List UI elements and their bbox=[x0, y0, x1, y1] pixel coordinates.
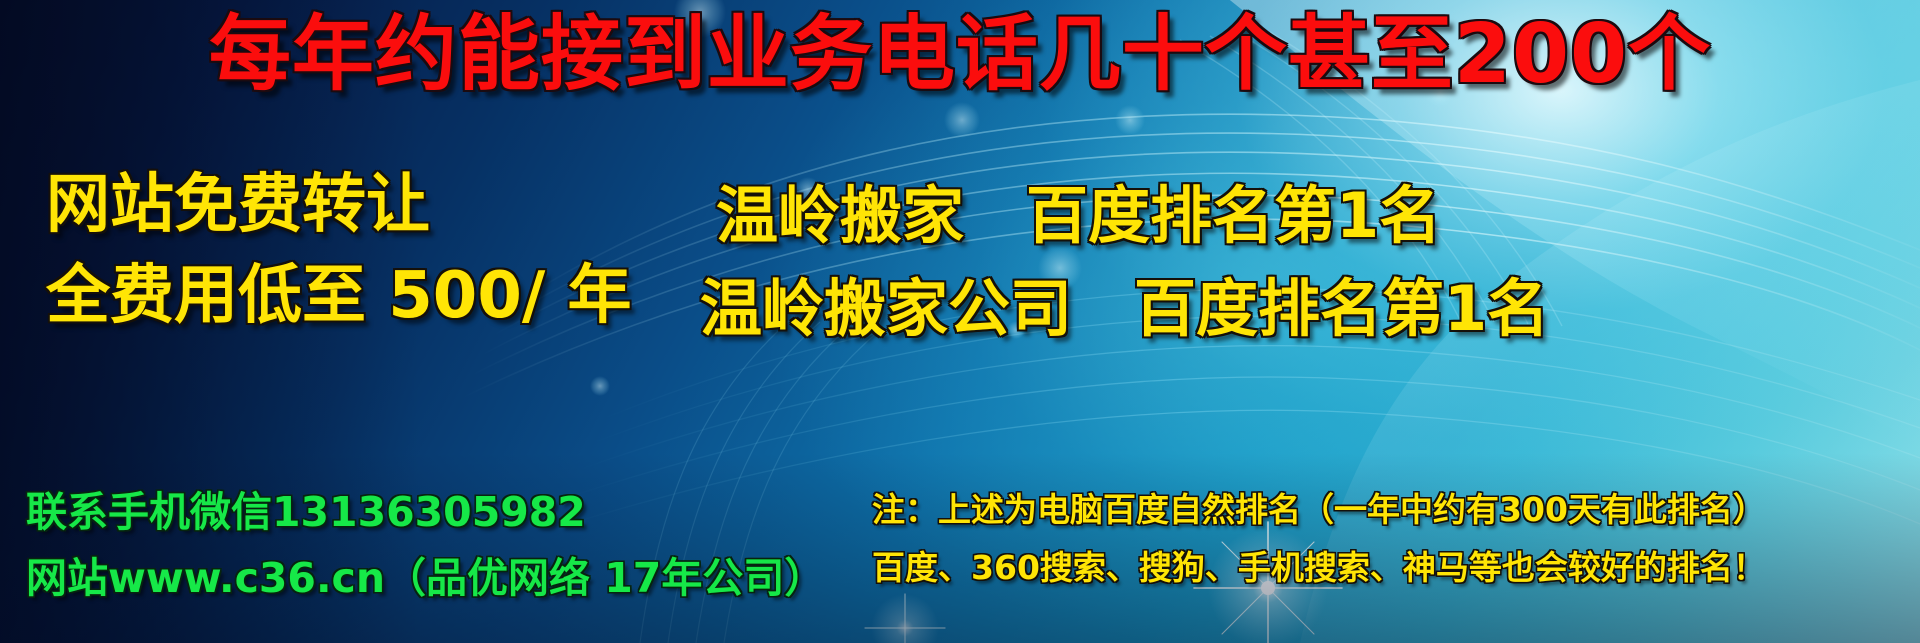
contact-website[interactable]: 网站www.c36.cn（品优网络 17年公司） bbox=[26, 551, 726, 605]
advertisement-banner: 每年约能接到业务电话几十个甚至200个 网站免费转让 全费用低至 500/ 年 … bbox=[0, 0, 1920, 643]
promo-right-line-2: 温岭搬家公司 百度排名第1名 bbox=[700, 269, 1920, 348]
contact-block: 联系手机微信13136305982 网站www.c36.cn（品优网络 17年公… bbox=[26, 485, 726, 605]
promo-right-block: 温岭搬家 百度排名第1名 温岭搬家公司 百度排名第1名 bbox=[700, 176, 1920, 349]
promo-left-line-2: 全费用低至 500/ 年 bbox=[46, 257, 746, 336]
banner-headline: 每年约能接到业务电话几十个甚至200个 bbox=[0, 14, 1920, 96]
contact-phone-wechat: 联系手机微信13136305982 bbox=[26, 485, 726, 539]
note-line-1: 注：上述为电脑百度自然排名（一年中约有300天有此排名） bbox=[718, 488, 1920, 532]
notes-block: 注：上述为电脑百度自然排名（一年中约有300天有此排名） 百度、360搜索、搜狗… bbox=[718, 488, 1920, 590]
promo-left-line-1: 网站免费转让 bbox=[46, 166, 746, 245]
promo-right-line-1: 温岭搬家 百度排名第1名 bbox=[700, 176, 1920, 255]
note-line-2: 百度、360搜索、搜狗、手机搜索、神马等也会较好的排名！ bbox=[718, 546, 1920, 590]
promo-left-block: 网站免费转让 全费用低至 500/ 年 bbox=[46, 166, 746, 337]
